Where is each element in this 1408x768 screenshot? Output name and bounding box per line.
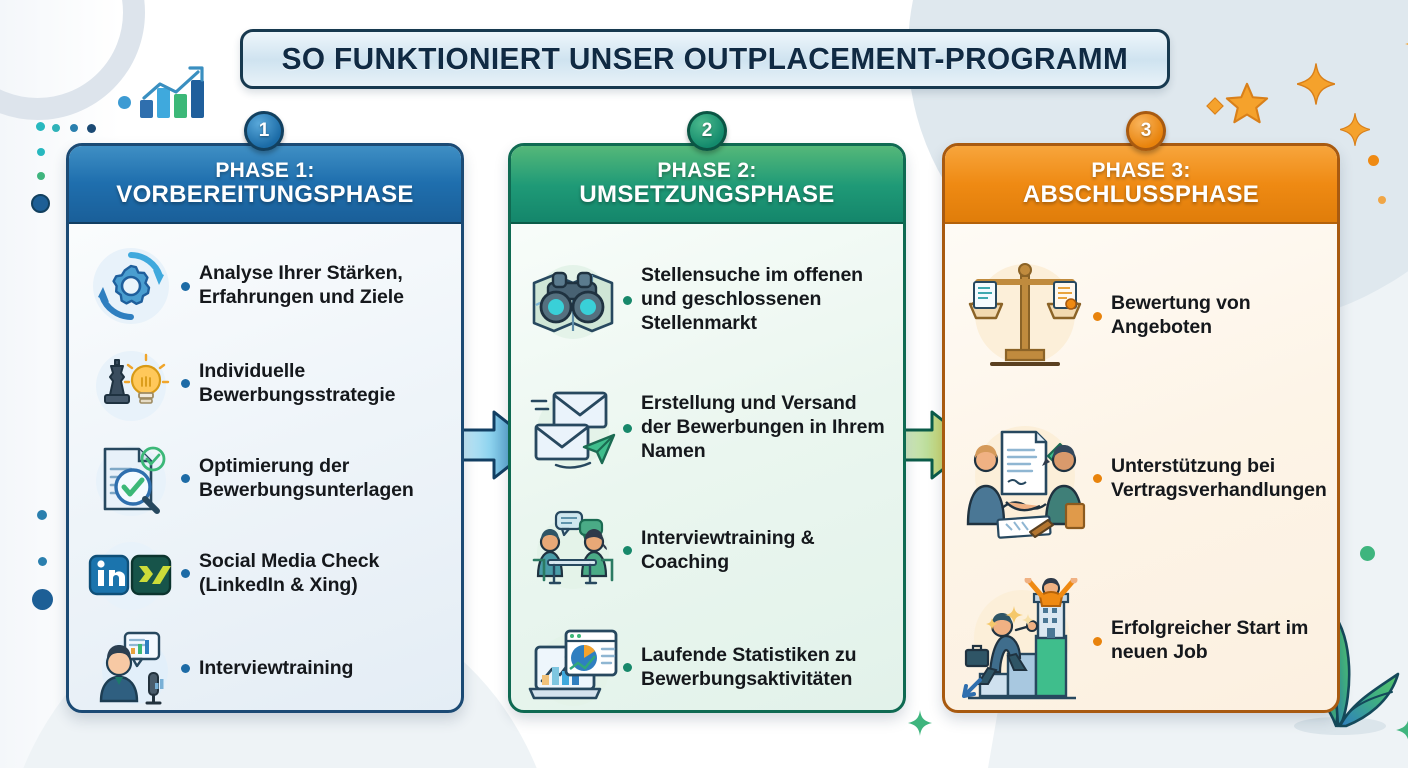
decor-dot xyxy=(118,96,131,109)
star-icon xyxy=(1224,80,1270,126)
list-item: Optimierung der Bewerbungsunterlagen xyxy=(83,431,447,526)
phase-card-3-header: PHASE 3: ABSCHLUSSPHASE xyxy=(945,146,1337,224)
sparkle-icon xyxy=(1340,113,1370,146)
linkedin-xing-icon xyxy=(83,531,179,617)
handshake-contract-icon xyxy=(959,411,1091,546)
list-item: Social Media Check (LinkedIn & Xing) xyxy=(83,526,447,621)
phase-card-1-header: PHASE 1: VORBEREITUNGSPHASE xyxy=(69,146,461,224)
sparkle-icon xyxy=(1297,63,1335,105)
list-item-label: Erfolgreicher Start im neuen Job xyxy=(1111,617,1323,665)
list-item: Analyse Ihrer Stärken, Erfahrungen und Z… xyxy=(83,236,447,336)
decor-dot xyxy=(1368,155,1379,166)
phase-card-2-title-line1: PHASE 2: xyxy=(657,160,756,183)
phase-card-3-body: Bewertung von Angeboten xyxy=(945,224,1337,713)
bullet-point xyxy=(623,663,632,672)
growth-chart-icon xyxy=(136,64,236,120)
list-item: Interviewtraining & Coaching xyxy=(525,492,889,609)
chess-lightbulb-icon xyxy=(83,341,179,427)
phase-card-1-title-line1: PHASE 1: xyxy=(215,160,314,183)
phase-card-3[interactable]: PHASE 3: ABSCHLUSSPHASE xyxy=(942,143,1340,713)
decor-dot xyxy=(38,557,47,566)
list-item-label: Social Media Check (LinkedIn & Xing) xyxy=(199,550,447,598)
decor-dot xyxy=(37,172,45,180)
list-item-label: Unterstützung bei Vertragsverhandlungen xyxy=(1111,455,1327,503)
phase-badge-3: 3 xyxy=(1126,111,1166,151)
phase-card-2-body: Stellensuche im offenen und geschlossene… xyxy=(511,224,903,713)
bullet-point xyxy=(181,474,190,483)
list-item: Unterstützung bei Vertragsverhandlungen xyxy=(959,396,1323,561)
list-item-label: Laufende Statistiken zu Bewerbungsaktivi… xyxy=(641,644,889,692)
phase-card-2[interactable]: PHASE 2: UMSETZUNGSPHASE xyxy=(508,143,906,713)
list-item: Laufende Statistiken zu Bewerbungsaktivi… xyxy=(525,609,889,713)
list-item-label: Optimierung der Bewerbungsunterlagen xyxy=(199,455,447,503)
bullet-point xyxy=(1093,637,1102,646)
list-item: Erstellung und Versand der Bewerbungen i… xyxy=(525,364,889,492)
phase-card-1-body: Analyse Ihrer Stärken, Erfahrungen und Z… xyxy=(69,224,461,713)
diamond-icon xyxy=(1206,97,1224,115)
decor-dot xyxy=(37,510,47,520)
list-item-label: Erstellung und Versand der Bewerbungen i… xyxy=(641,392,889,463)
decor-dot xyxy=(1360,546,1375,561)
decor-dot xyxy=(37,148,45,156)
decor-dot xyxy=(70,124,78,132)
decor-dot xyxy=(1378,196,1386,204)
decor-dot xyxy=(52,124,60,132)
phase-card-3-title-line1: PHASE 3: xyxy=(1091,160,1190,183)
phase-card-3-title-line2: ABSCHLUSSPHASE xyxy=(1023,182,1259,208)
bullet-point xyxy=(181,664,190,673)
envelopes-paperplane-icon xyxy=(525,385,621,471)
list-item-label: Interviewtraining & Coaching xyxy=(641,527,889,575)
list-item: Interviewtraining xyxy=(83,621,447,713)
sparkle-icon xyxy=(908,710,932,736)
phase-card-2-header: PHASE 2: UMSETZUNGSPHASE xyxy=(511,146,903,224)
bullet-point xyxy=(181,379,190,388)
list-item-label: Analyse Ihrer Stärken, Erfahrungen und Z… xyxy=(199,262,447,310)
balance-scale-icon xyxy=(959,251,1091,381)
bullet-point xyxy=(623,546,632,555)
speaker-microphone-icon xyxy=(83,626,179,712)
list-item-label: Interviewtraining xyxy=(199,657,353,681)
bullet-point xyxy=(1093,312,1102,321)
phase-card-1-title-line2: VORBEREITUNGSPHASE xyxy=(116,182,413,208)
document-check-magnifier-icon xyxy=(83,436,179,522)
podium-success-icon xyxy=(959,575,1091,707)
decor-dot xyxy=(31,194,50,213)
decor-dot xyxy=(32,589,53,610)
decor-dot xyxy=(87,124,96,133)
list-item-label: Bewertung von Angeboten xyxy=(1111,292,1323,340)
bullet-point xyxy=(623,424,632,433)
bullet-point xyxy=(623,296,632,305)
phase-badge-1: 1 xyxy=(244,111,284,151)
list-item: Erfolgreicher Start im neuen Job xyxy=(959,561,1323,713)
bullet-point xyxy=(1093,474,1102,483)
bullet-point xyxy=(181,569,190,578)
list-item-label: Individuelle Bewerbungsstrategie xyxy=(199,360,447,408)
phase-card-1[interactable]: PHASE 1: VORBEREITUNGSPHASE Analyse Ihre… xyxy=(66,143,464,713)
page-title-text: SO FUNKTIONIERT UNSER OUTPLACEMENT-PROGR… xyxy=(282,41,1128,77)
gear-cycle-icon xyxy=(83,243,179,329)
list-item-label: Stellensuche im offenen und geschlossene… xyxy=(641,264,889,335)
list-item: Individuelle Bewerbungsstrategie xyxy=(83,336,447,431)
list-item: Bewertung von Angeboten xyxy=(959,236,1323,396)
laptop-statistics-icon xyxy=(525,625,621,711)
phase-card-2-title-line2: UMSETZUNGSPHASE xyxy=(579,182,834,208)
bullet-point xyxy=(181,282,190,291)
binoculars-map-icon xyxy=(525,257,621,343)
page-title: SO FUNKTIONIERT UNSER OUTPLACEMENT-PROGR… xyxy=(240,29,1170,89)
decor-dot xyxy=(36,122,45,131)
list-item: Stellensuche im offenen und geschlossene… xyxy=(525,236,889,364)
interview-table-icon xyxy=(525,508,621,594)
phase-badge-2: 2 xyxy=(687,111,727,151)
